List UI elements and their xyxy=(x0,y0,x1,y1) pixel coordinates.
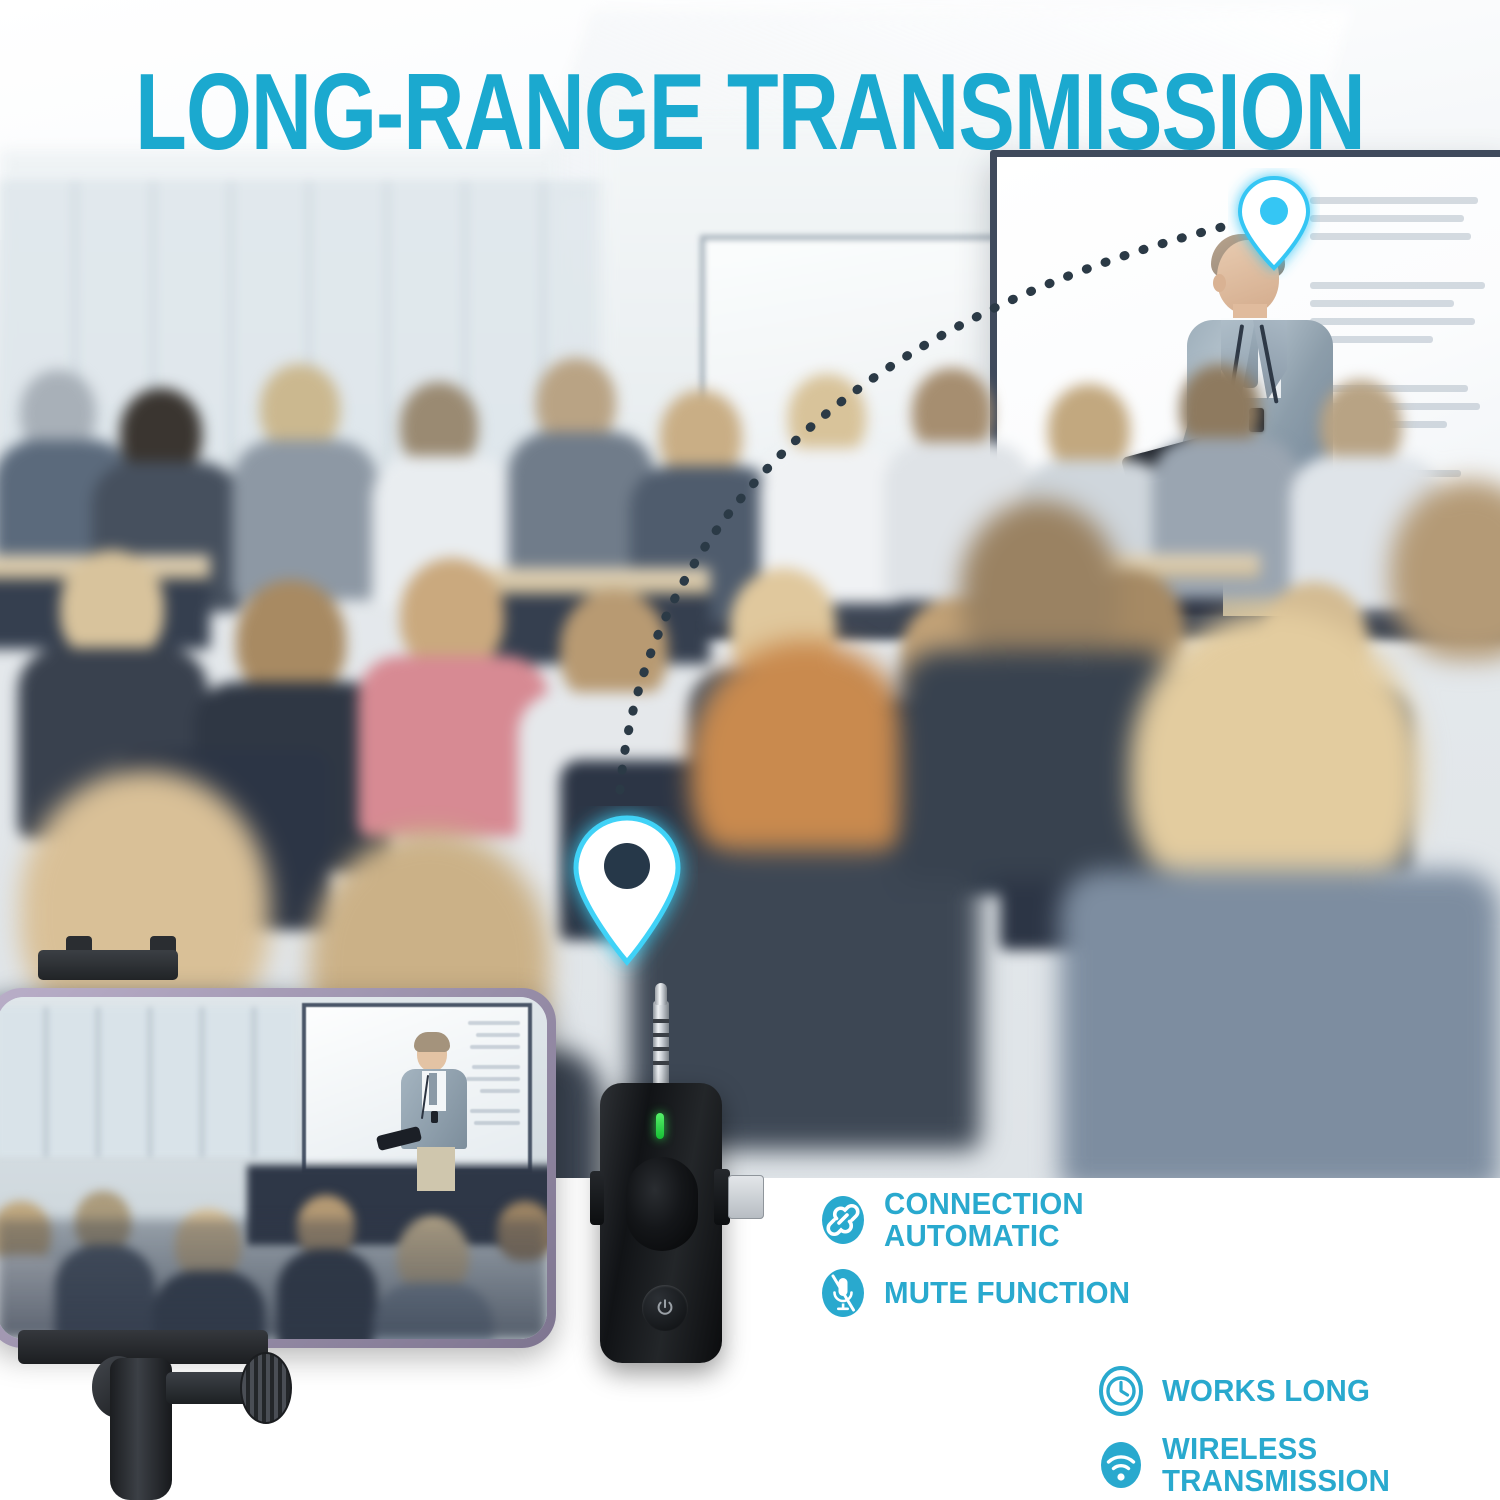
receiver-clip-left xyxy=(590,1171,604,1225)
feature-label: MUTE FUNCTION xyxy=(884,1277,1130,1309)
feature-wireless-transmission: WIRELESS TRANSMISSION xyxy=(1098,1433,1480,1496)
jack-ring-2 xyxy=(653,1033,669,1037)
transmitter-location-pin xyxy=(556,806,698,984)
wireless-receiver-device xyxy=(584,983,749,1363)
headphone-jack xyxy=(650,983,672,1093)
feature-group-1: CONNECTION AUTOMATIC MUTE F xyxy=(820,1188,1480,1319)
feature-list: CONNECTION AUTOMATIC MUTE F xyxy=(820,1188,1480,1500)
product-marketing-banner: LONG-RANGE TRANSMISSION xyxy=(0,0,1500,1500)
feature-label: WORKS LONG xyxy=(1162,1375,1370,1407)
tripod-neck xyxy=(110,1358,172,1500)
phone-scene-presenter xyxy=(395,1035,473,1185)
tripod-adjust-knob[interactable] xyxy=(240,1352,292,1424)
feature-label: WIRELESS TRANSMISSION xyxy=(1162,1433,1390,1496)
receiver-location-pin xyxy=(1228,168,1320,280)
tripod-top-plate xyxy=(38,950,178,980)
jack-ring-1 xyxy=(653,1019,669,1023)
smartphone: ▬ ╱ ↓ ◆ ◈ TX xyxy=(0,988,556,1348)
jack-ring-3 xyxy=(653,1047,669,1051)
power-button[interactable] xyxy=(642,1285,688,1331)
link-icon xyxy=(820,1194,866,1246)
phone-scene-foreground xyxy=(0,1219,547,1339)
jack-ring-4 xyxy=(653,1061,669,1065)
feature-works-long: WORKS LONG xyxy=(1098,1365,1480,1417)
feature-mute-function: MUTE FUNCTION xyxy=(820,1267,1480,1319)
phone-scene-panels xyxy=(0,1007,297,1157)
jack-tip xyxy=(655,983,667,1005)
power-icon xyxy=(654,1297,676,1319)
lightning-connector xyxy=(728,1175,764,1219)
feature-connection-automatic: CONNECTION AUTOMATIC xyxy=(820,1188,1480,1251)
clock-icon xyxy=(1098,1365,1144,1417)
presenter-ear xyxy=(1213,274,1226,292)
page-title: LONG-RANGE TRANSMISSION xyxy=(60,58,1440,167)
status-led xyxy=(656,1113,664,1139)
phone-scene xyxy=(0,997,547,1339)
microphone-grille xyxy=(626,1157,698,1251)
wifi-icon xyxy=(1098,1439,1144,1491)
mute-mic-icon xyxy=(820,1267,866,1319)
feature-label: CONNECTION AUTOMATIC xyxy=(884,1188,1084,1251)
feature-group-2: WORKS LONG WIRELESS TRANSMISSION xyxy=(1098,1365,1480,1496)
phone-screen: ▬ ╱ ↓ ◆ ◈ TX xyxy=(0,997,547,1339)
